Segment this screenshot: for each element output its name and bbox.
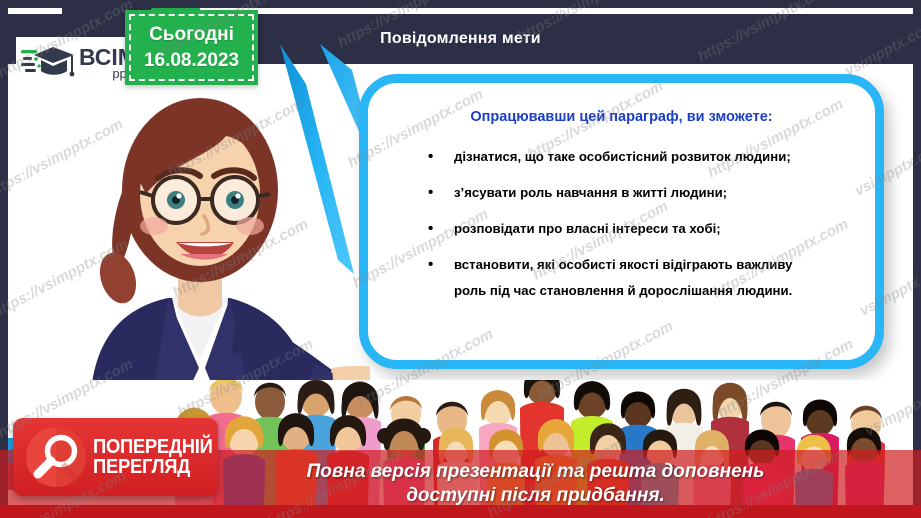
- graduation-cap-icon: [21, 43, 75, 83]
- magnifier-icon: [25, 426, 87, 488]
- bubble-heading: Опрацювавши цей параграф, ви зможете:: [394, 109, 849, 125]
- speech-bubble-content: Опрацювавши цей параграф, ви зможете: ді…: [368, 83, 875, 360]
- date-badge: Сьогодні 16.08.2023: [125, 10, 258, 85]
- preview-badge[interactable]: ПОПЕРЕДНІЙ ПЕРЕГЛЯД: [13, 418, 218, 496]
- list-item: розповідати про власні інтереси та хобі;: [410, 219, 849, 238]
- preview-badge-line2: ПЕРЕГЛЯД: [93, 457, 213, 477]
- objectives-list: дізнатися, що таке особистісний розвиток…: [394, 147, 849, 300]
- preview-badge-text: ПОПЕРЕДНІЙ ПЕРЕГЛЯД: [93, 437, 223, 478]
- purchase-notice-line1: Повна версія презентації та решта доповн…: [307, 460, 765, 484]
- list-item: встановити, які особисті якості відіграю…: [410, 255, 849, 274]
- teacher-illustration: [60, 82, 370, 412]
- list-item: з’ясувати роль навчання в житті людини;: [410, 183, 849, 202]
- speech-bubble: Опрацювавши цей параграф, ви зможете: ді…: [359, 74, 884, 369]
- date-badge-label: Сьогодні: [149, 22, 234, 48]
- banner-base-strip: [0, 505, 921, 518]
- date-badge-value: 16.08.2023: [144, 48, 239, 74]
- preview-badge-line1: ПОПЕРЕДНІЙ: [93, 437, 213, 457]
- list-item: дізнатися, що таке особистісний розвиток…: [410, 147, 849, 166]
- presentation-slide: Повідомлення мети ВСІМ pptx Сього: [0, 0, 921, 518]
- list-item-continuation: роль під час становлення й дорослішання …: [410, 281, 849, 300]
